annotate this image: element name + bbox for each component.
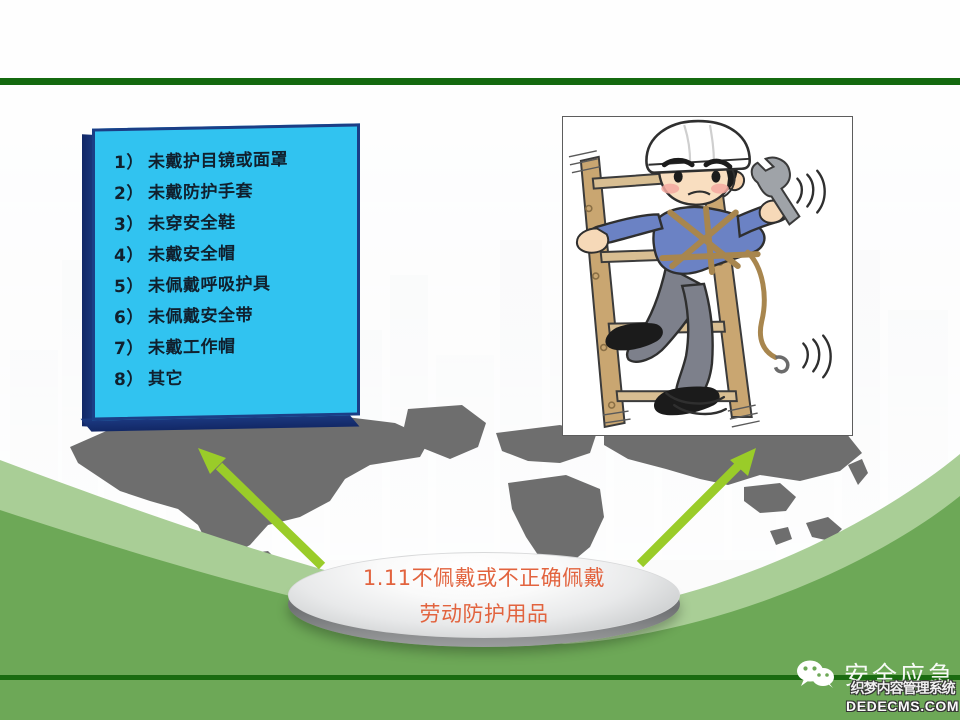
list-item-number: 8） <box>114 364 148 396</box>
list-item: 6）未佩戴安全带 <box>114 298 360 334</box>
watermark-en: DEDECMS.COM <box>846 699 959 713</box>
ellipse-title-line-1: 1.11不佩戴或不正确佩戴 <box>363 562 605 592</box>
illustration-frame <box>562 116 853 436</box>
list-item: 8）其它 <box>114 360 360 396</box>
list-item-label: 未穿安全鞋 <box>148 213 236 235</box>
list-item-number: 6） <box>114 302 148 334</box>
site-watermark: 织梦内容管理系统 DEDECMS.COM <box>846 682 959 713</box>
ellipse-title-line-2: 劳动防护用品 <box>420 598 549 628</box>
watermark-cn: 织梦内容管理系统 <box>846 682 959 696</box>
title-ellipse: 1.11不佩戴或不正确佩戴 劳动防护用品 <box>288 552 680 644</box>
list-item-number: 3） <box>114 209 148 241</box>
list-item: 2）未戴防护手套 <box>114 174 360 210</box>
list-item-label: 未佩戴安全带 <box>148 305 253 327</box>
ellipse-text-group: 1.11不佩戴或不正确佩戴 劳动防护用品 <box>288 552 680 638</box>
top-green-rule <box>0 78 960 85</box>
list-item-number: 5） <box>114 271 148 303</box>
list-item-label: 其它 <box>148 369 183 390</box>
hazard-list-callout: 1）未戴护目镜或面罩 2）未戴防护手套 3）未穿安全鞋 4）未戴安全帽 5）未佩… <box>92 123 360 420</box>
list-item-number: 1） <box>114 147 148 179</box>
list-item: 4）未戴安全帽 <box>114 236 360 272</box>
list-item: 7）未戴工作帽 <box>114 329 360 365</box>
list-item: 1）未戴护目镜或面罩 <box>114 143 360 179</box>
list-item-label: 未戴安全帽 <box>148 244 236 266</box>
list-item-label: 未佩戴呼吸护具 <box>148 274 271 296</box>
list-item-label: 未戴防护手套 <box>148 181 253 203</box>
hazard-list: 1）未戴护目镜或面罩 2）未戴防护手套 3）未穿安全鞋 4）未戴安全帽 5）未佩… <box>92 123 360 420</box>
wechat-icon <box>796 659 838 689</box>
worker-on-ladder-illustration <box>563 117 852 435</box>
list-item-label: 未戴工作帽 <box>148 337 236 359</box>
list-item-number: 4） <box>114 240 148 272</box>
list-item-number: 7） <box>114 333 148 365</box>
list-item-number: 2） <box>114 178 148 210</box>
list-item: 5）未佩戴呼吸护具 <box>114 267 360 303</box>
list-item: 3）未穿安全鞋 <box>114 205 360 241</box>
slide-canvas: 1）未戴护目镜或面罩 2）未戴防护手套 3）未穿安全鞋 4）未戴安全帽 5）未佩… <box>0 0 960 720</box>
list-item-label: 未戴护目镜或面罩 <box>148 150 288 173</box>
